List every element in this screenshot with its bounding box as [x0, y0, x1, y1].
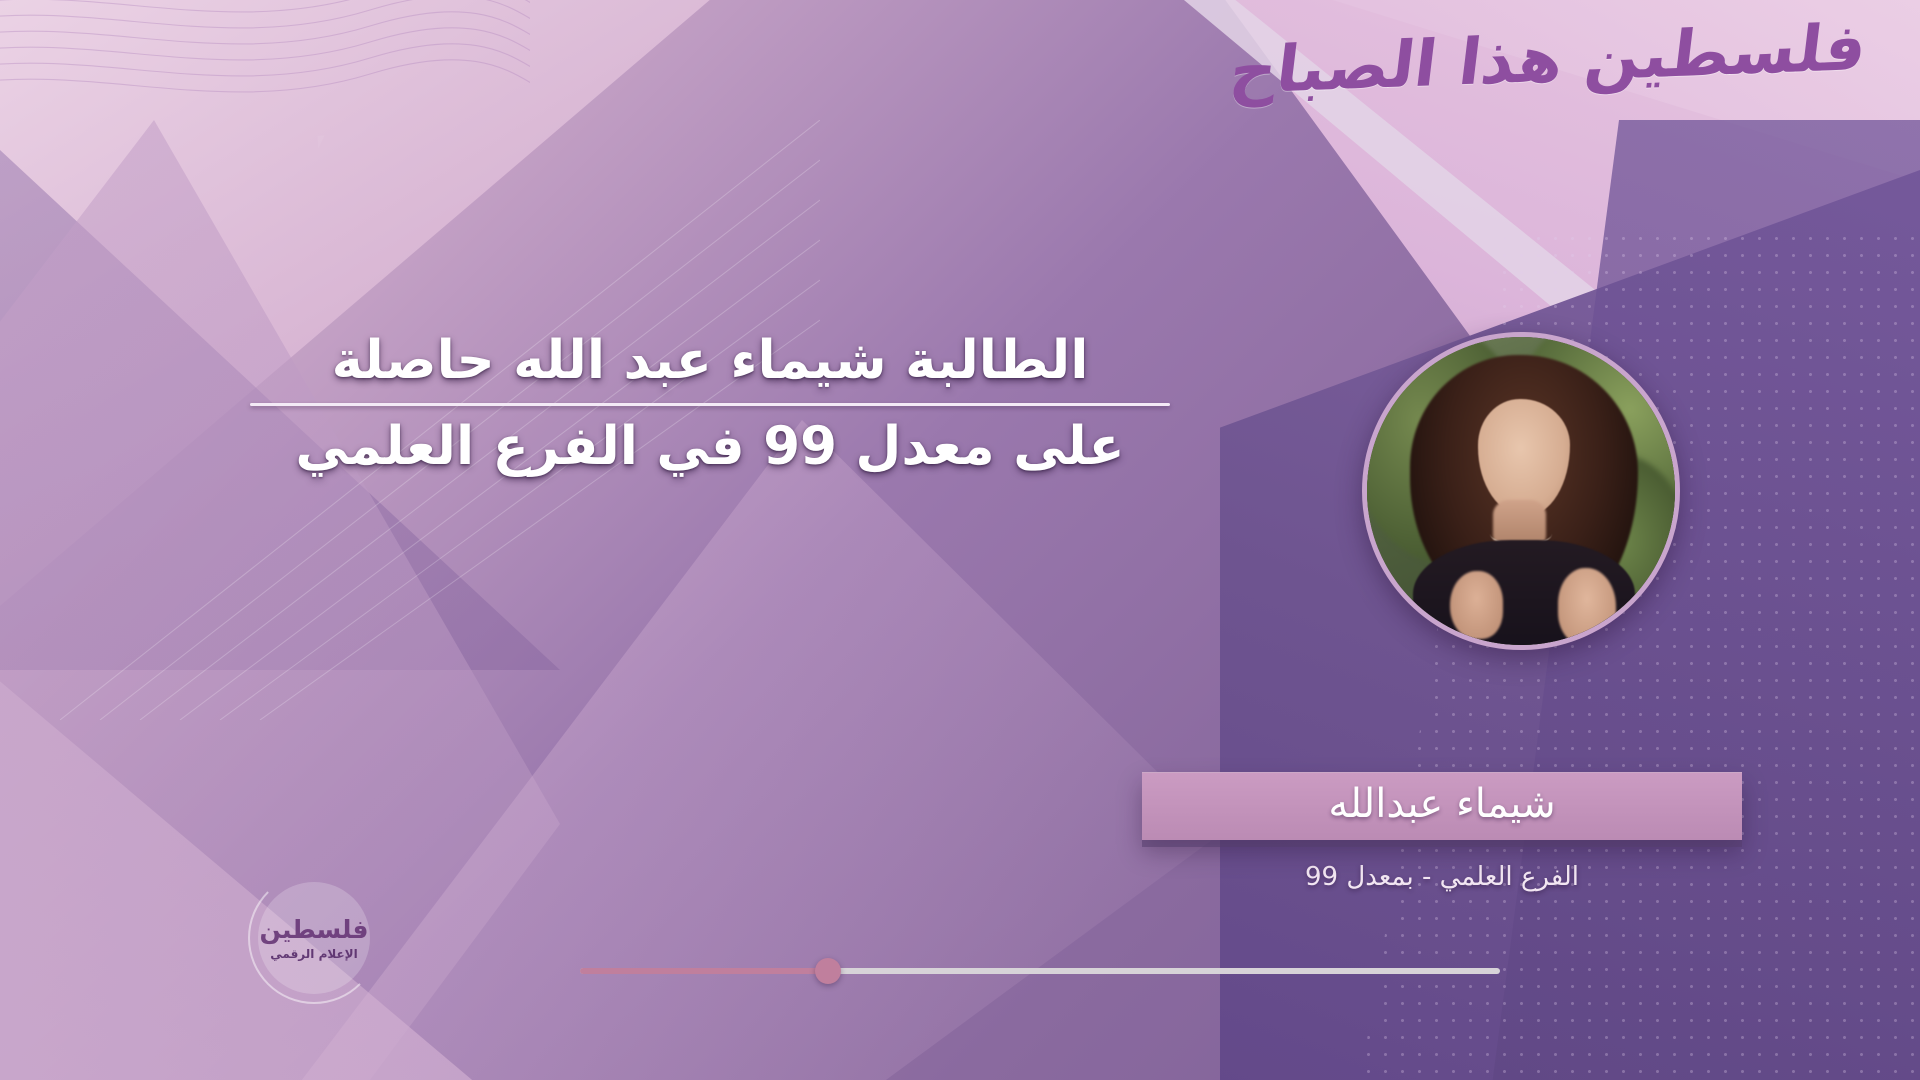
guest-photo: [1367, 337, 1675, 645]
lower-third: شيماء عبدالله الفرع العلمي - بمعدل 99: [1142, 772, 1742, 892]
guest-name-bar: شيماء عبدالله: [1142, 772, 1742, 840]
photo-subject-hand-left: [1450, 571, 1502, 639]
headline-block: الطالبة شيماء عبد الله حاصلة على معدل 99…: [250, 326, 1170, 482]
headline-line-2: على معدل 99 في الفرع العلمي: [250, 412, 1170, 482]
progress-fill: [580, 968, 828, 974]
watermark-logo: فلسطين الإعلام الرقمي: [258, 882, 370, 994]
headline-divider: [250, 403, 1170, 406]
watermark-arc-icon: [248, 872, 380, 1004]
photo-subject-hand-right: [1558, 568, 1617, 645]
progress-knob[interactable]: [815, 958, 841, 984]
guest-subtitle: الفرع العلمي - بمعدل 99: [1142, 862, 1742, 892]
guest-photo-ring: [1362, 332, 1680, 650]
progress-bar[interactable]: [580, 956, 1500, 986]
headline-line-1: الطالبة شيماء عبد الله حاصلة: [250, 326, 1170, 396]
guest-name: شيماء عبدالله: [1168, 782, 1716, 827]
broadcast-frame: فلسطين هذا الصباح الطالبة شيماء عبد الله…: [0, 0, 1920, 1080]
guest-photo-container: [1362, 332, 1680, 650]
